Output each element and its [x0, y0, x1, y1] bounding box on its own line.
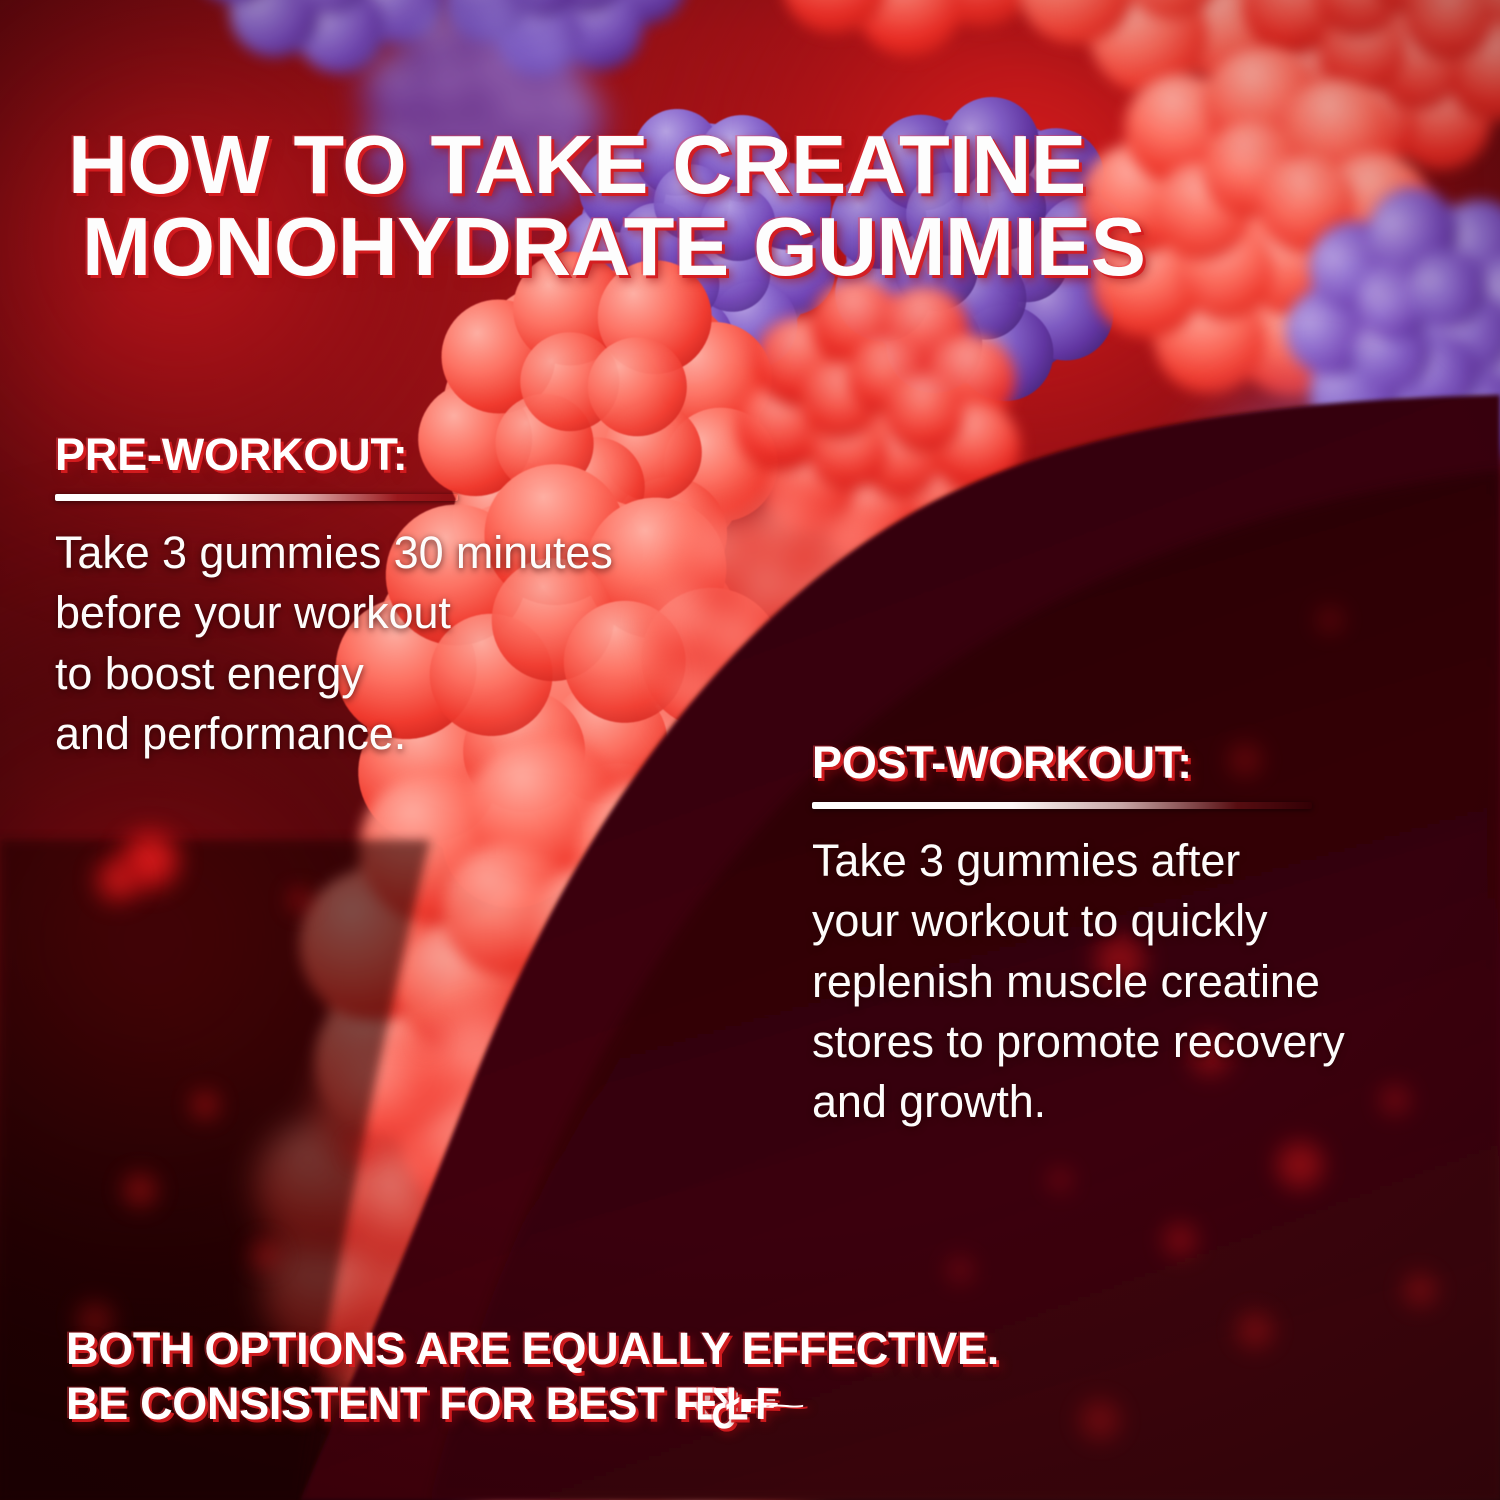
garbled-glyph: R [674, 1377, 697, 1432]
pre-workout-heading: PRE-WORKOUT: [55, 432, 755, 477]
post-workout-panel: POST-WORKOUT: Take 3 gummies after your … [812, 740, 1472, 1132]
footer-line-2-prefix: BE CONSISTENT FOR BEST [66, 1378, 677, 1429]
pre-workout-panel: PRE-WORKOUT: Take 3 gummies 30 minutes b… [55, 432, 755, 764]
title-line-2: MONOHYDRATE GUMMIES [68, 206, 1398, 288]
post-workout-underline [812, 802, 1312, 809]
body-line: your workout to quickly [812, 891, 1472, 951]
garbled-glyph: F [736, 1394, 757, 1417]
body-line: and growth. [812, 1072, 1472, 1132]
body-line: replenish muscle creatine [812, 952, 1472, 1012]
promo-poster: HOW TO TAKE CREATINE MONOHYDRATE GUMMIES… [0, 0, 1500, 1500]
footer-garbled-word: REƸI'ŁFF~ [676, 1377, 783, 1432]
post-workout-heading: POST-WORKOUT: [812, 740, 1472, 785]
title-line-1: HOW TO TAKE CREATINE [68, 118, 1086, 211]
body-line: before your workout [55, 583, 755, 643]
body-line: stores to promote recovery [812, 1012, 1472, 1072]
body-line: and performance. [55, 704, 755, 764]
footer-callout: BOTH OPTIONS ARE EQUALLY EFFECTIVE. BE C… [66, 1322, 1446, 1432]
footer-line-2: BE CONSISTENT FOR BEST REƸI'ŁFF~ [66, 1377, 1446, 1432]
pre-workout-body: Take 3 gummies 30 minutes before your wo… [55, 523, 755, 764]
footer-line-1: BOTH OPTIONS ARE EQUALLY EFFECTIVE. [66, 1322, 1446, 1377]
body-line: to boost energy [55, 644, 755, 704]
page-title: HOW TO TAKE CREATINE MONOHYDRATE GUMMIES [68, 124, 1398, 288]
body-line: Take 3 gummies after [812, 831, 1472, 891]
post-workout-body: Take 3 gummies after your workout to qui… [812, 831, 1472, 1132]
garbled-glyph: ~ [766, 1394, 786, 1417]
body-line: Take 3 gummies 30 minutes [55, 523, 755, 583]
pre-workout-underline [55, 494, 458, 501]
garbled-glyph: E [695, 1376, 707, 1432]
garbled-glyph: Ƹ [710, 1377, 724, 1432]
